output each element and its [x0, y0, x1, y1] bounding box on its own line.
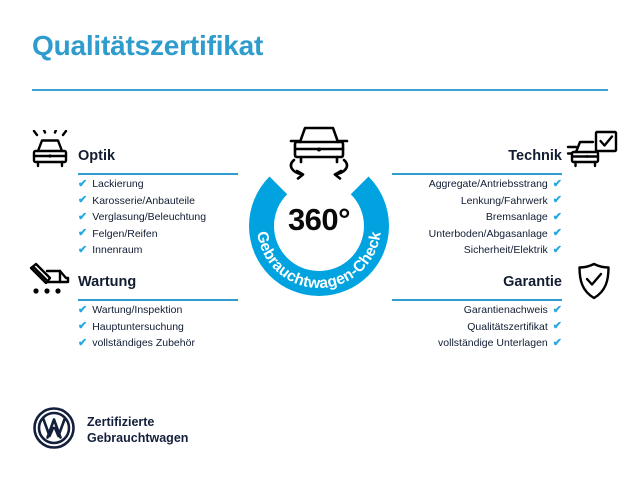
section-optik-divider	[78, 173, 238, 175]
check-icon: ✔	[78, 228, 87, 239]
section-wartung-list: ✔Wartung/Inspektion ✔Hauptuntersuchung ✔…	[78, 302, 238, 352]
list-item-label: Verglasung/Beleuchtung	[92, 209, 206, 226]
check-icon: ✔	[553, 195, 562, 206]
car-checklist-icon	[566, 130, 618, 175]
list-item-label: Hauptuntersuchung	[92, 319, 184, 336]
page-title: Qualitätszertifikat	[32, 30, 263, 62]
check-icon: ✔	[553, 212, 562, 223]
section-optik-header: Optik	[78, 146, 238, 176]
list-item: ✔Verglasung/Beleuchtung	[78, 209, 238, 226]
check-icon: ✔	[553, 245, 562, 256]
check-icon: ✔	[78, 195, 87, 206]
brand-line-2: Gebrauchtwagen	[87, 431, 188, 447]
section-wartung: Wartung ✔Wartung/Inspektion ✔Hauptunters…	[78, 272, 238, 352]
list-item-label: Lackierung	[92, 176, 143, 193]
badge-degrees-label: 360°	[233, 202, 405, 238]
list-item-label: Lenkung/Fahrwerk	[461, 193, 548, 210]
section-technik-header: Technik	[392, 146, 562, 176]
check-icon: ✔	[553, 321, 562, 332]
list-item: vollständige Unterlagen✔	[392, 335, 562, 352]
list-item: ✔Hauptuntersuchung	[78, 319, 238, 336]
check-icon: ✔	[78, 179, 87, 190]
list-item-label: Karosserie/Anbauteile	[92, 193, 195, 210]
brand-text: Zertifizierte Gebrauchtwagen	[87, 415, 188, 446]
section-garantie: Garantie Garantienachweis✔ Qualitätszert…	[392, 272, 562, 352]
list-item: Aggregate/Antriebsstrang✔	[392, 176, 562, 193]
section-garantie-header: Garantie	[392, 272, 562, 302]
check-icon: ✔	[553, 305, 562, 316]
section-wartung-divider	[78, 299, 238, 301]
list-item-label: vollständige Unterlagen	[438, 335, 548, 352]
check-icon: ✔	[78, 212, 87, 223]
brand-line-1: Zertifizierte	[87, 415, 188, 431]
list-item: Sicherheit/Elektrik✔	[392, 242, 562, 259]
header-divider	[32, 89, 608, 91]
list-item-label: Garantienachweis	[464, 302, 548, 319]
list-item-label: vollständiges Zubehör	[92, 335, 195, 352]
list-item: Garantienachweis✔	[392, 302, 562, 319]
list-item-label: Qualitätszertifikat	[467, 319, 548, 336]
check-icon: ✔	[553, 228, 562, 239]
list-item: Qualitätszertifikat✔	[392, 319, 562, 336]
list-item-label: Innenraum	[92, 242, 142, 259]
section-garantie-divider	[392, 299, 562, 301]
list-item-label: Wartung/Inspektion	[92, 302, 182, 319]
section-garantie-title: Garantie	[392, 272, 562, 292]
section-technik-list: Aggregate/Antriebsstrang✔ Lenkung/Fahrwe…	[392, 176, 562, 259]
shield-check-icon	[575, 262, 613, 307]
car-service-wrench-icon	[27, 262, 73, 307]
car-shine-icon	[27, 130, 73, 175]
list-item: ✔Wartung/Inspektion	[78, 302, 238, 319]
section-technik: Technik Aggregate/Antriebsstrang✔ Lenkun…	[392, 146, 562, 259]
list-item: ✔Innenraum	[78, 242, 238, 259]
list-item-label: Bremsanlage	[486, 209, 548, 226]
list-item: Lenkung/Fahrwerk✔	[392, 193, 562, 210]
list-item-label: Unterboden/Abgasanlage	[429, 226, 548, 243]
check-icon: ✔	[553, 179, 562, 190]
list-item: Unterboden/Abgasanlage✔	[392, 226, 562, 243]
list-item: ✔Karosserie/Anbauteile	[78, 193, 238, 210]
car-rotate-360-icon	[282, 116, 356, 182]
section-optik-title: Optik	[78, 146, 238, 166]
list-item: Bremsanlage✔	[392, 209, 562, 226]
list-item-label: Sicherheit/Elektrik	[464, 242, 548, 259]
section-wartung-header: Wartung	[78, 272, 238, 302]
section-wartung-title: Wartung	[78, 272, 238, 292]
section-garantie-list: Garantienachweis✔ Qualitätszertifikat✔ v…	[392, 302, 562, 352]
section-technik-title: Technik	[392, 146, 562, 166]
section-optik: Optik ✔Lackierung ✔Karosserie/Anbauteile…	[78, 146, 238, 259]
volkswagen-logo	[32, 406, 76, 455]
list-item: ✔vollständiges Zubehör	[78, 335, 238, 352]
check-icon: ✔	[78, 321, 87, 332]
list-item: ✔Felgen/Reifen	[78, 226, 238, 243]
check-icon: ✔	[78, 338, 87, 349]
check-icon: ✔	[553, 338, 562, 349]
check-icon: ✔	[78, 305, 87, 316]
section-optik-list: ✔Lackierung ✔Karosserie/Anbauteile ✔Verg…	[78, 176, 238, 259]
list-item-label: Felgen/Reifen	[92, 226, 157, 243]
list-item: ✔Lackierung	[78, 176, 238, 193]
badge-360-gebrauchtwagen-check: Gebrauchtwagen-Check 360°	[233, 140, 405, 312]
section-technik-divider	[392, 173, 562, 175]
check-icon: ✔	[78, 245, 87, 256]
list-item-label: Aggregate/Antriebsstrang	[429, 176, 548, 193]
brand-lockup: Zertifizierte Gebrauchtwagen	[32, 406, 188, 455]
